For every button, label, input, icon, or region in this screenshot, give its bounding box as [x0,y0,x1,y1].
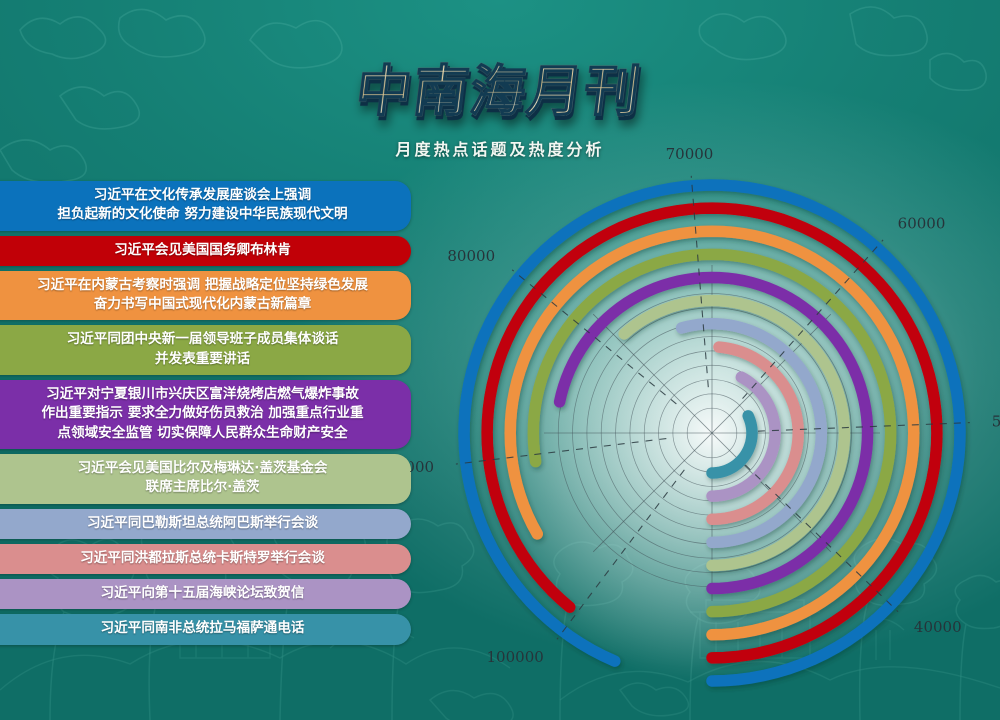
legend-item-label: 习近平同团中央新一届领导班子成员集体谈话 并发表重要讲话 [67,330,339,369]
axis-tick-label: 50000 [992,413,1000,431]
legend-item-3[interactable]: 习近平在内蒙古考察时强调 把握战略定位坚持绿色发展 奋力书写中国式现代化内蒙古新… [0,271,411,321]
legend-item-9[interactable]: 习近平向第十五届海峡论坛致贺信 [0,579,411,609]
axis-tick-label: 70000 [666,145,714,163]
axis-tick-label: 40000 [914,618,962,636]
legend-item-1[interactable]: 习近平在文化传承发展座谈会上强调 担负起新的文化使命 努力建设中华民族现代文明 [0,181,411,231]
polar-grid [544,265,880,601]
page-title: 中南海月刊 [353,46,648,126]
legend-item-2[interactable]: 习近平会见美国国务卿布林肯 [0,236,411,266]
infographic-canvas: 中南海月刊 月度热点话题及热度分析 习近平在文化传承发展座谈会上强调 担负起新的… [0,0,1000,720]
legend-item-label: 习近平在文化传承发展座谈会上强调 担负起新的文化使命 努力建设中华民族现代文明 [57,186,347,225]
axis-tick-label: 80000 [447,247,495,265]
legend-item-label: 习近平同南非总统拉马福萨通电话 [101,619,305,638]
legend-item-5[interactable]: 习近平对宁夏银川市兴庆区富洋烧烤店燃气爆炸事故 作出重要指示 要求全力做好伤员救… [0,380,411,449]
legend-item-8[interactable]: 习近平同洪都拉斯总统卡斯特罗举行会谈 [0,544,411,574]
legend-item-label: 习近平在内蒙古考察时强调 把握战略定位坚持绿色发展 奋力书写中国式现代化内蒙古新… [37,276,368,315]
legend-item-label: 习近平对宁夏银川市兴庆区富洋烧烤店燃气爆炸事故 作出重要指示 要求全力做好伤员救… [41,385,363,443]
axis-tick-label: 100000 [487,648,544,666]
legend-item-4[interactable]: 习近平同团中央新一届领导班子成员集体谈话 并发表重要讲话 [0,325,411,375]
axis-tick-label: 60000 [898,214,946,232]
legend-item-label: 习近平同洪都拉斯总统卡斯特罗举行会谈 [80,549,325,568]
legend-item-label: 习近平会见美国比尔及梅琳达·盖茨基金会 联席主席比尔·盖茨 [78,459,328,498]
axis-tick-label: 90000 [410,458,434,476]
legend-list: 习近平在文化传承发展座谈会上强调 担负起新的文化使命 努力建设中华民族现代文明习… [0,181,411,650]
legend-item-label: 习近平同巴勒斯坦总统阿巴斯举行会谈 [87,514,318,533]
legend-item-7[interactable]: 习近平同巴勒斯坦总统阿巴斯举行会谈 [0,509,411,539]
legend-item-label: 习近平会见美国国务卿布林肯 [114,241,291,260]
radial-bar-chart: 400005000060000700008000090000100000 [410,120,1000,720]
legend-item-10[interactable]: 习近平同南非总统拉马福萨通电话 [0,614,411,644]
legend-item-label: 习近平向第十五届海峡论坛致贺信 [101,584,305,603]
legend-item-6[interactable]: 习近平会见美国比尔及梅琳达·盖茨基金会 联席主席比尔·盖茨 [0,454,411,504]
